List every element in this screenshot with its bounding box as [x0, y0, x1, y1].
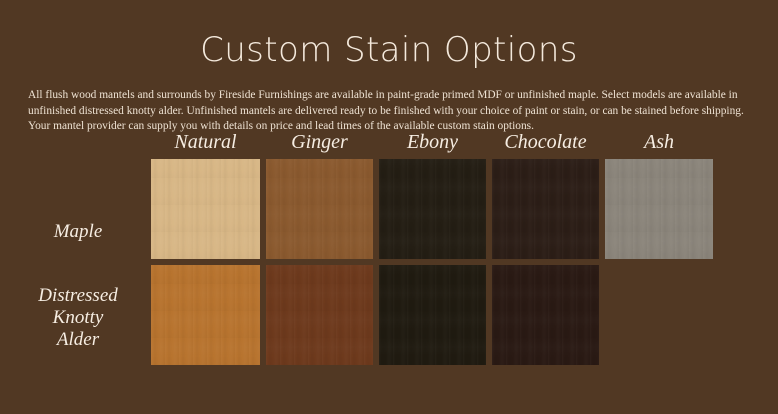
swatch-maple-natural[interactable]: [151, 159, 260, 259]
stain-swatch-grid: Natural Ginger Ebony Chocolate Ash Maple…: [0, 130, 778, 371]
swatch-alder-ebony[interactable]: [379, 265, 486, 365]
swatch-maple-ginger[interactable]: [266, 159, 373, 259]
row-label-distressed-knotty-alder: Distressed Knotty Alder: [10, 285, 146, 351]
row-label-line: Knotty: [10, 307, 146, 329]
swatch-alder-natural[interactable]: [151, 265, 260, 365]
swatch-row-distressed-knotty-alder: Distressed Knotty Alder: [0, 265, 778, 371]
swatch-maple-chocolate[interactable]: [492, 159, 599, 259]
page-title: Custom Stain Options: [0, 33, 778, 67]
column-header-chocolate: Chocolate: [492, 130, 599, 154]
row-label-maple: Maple: [10, 221, 146, 243]
column-header-ginger: Ginger: [266, 130, 373, 154]
column-header-ebony: Ebony: [379, 130, 486, 154]
swatch-maple-ebony[interactable]: [379, 159, 486, 259]
stain-options-page: Custom Stain Options All flush wood mant…: [0, 0, 778, 414]
row-label-line: Distressed: [10, 285, 146, 307]
swatch-row-maple: Maple: [0, 159, 778, 265]
row-label-line: Alder: [10, 329, 146, 351]
column-header-natural: Natural: [151, 130, 260, 154]
row-label-line: Maple: [10, 221, 146, 243]
intro-paragraph: All flush wood mantels and surrounds by …: [28, 88, 750, 134]
swatch-alder-ginger[interactable]: [266, 265, 373, 365]
swatch-maple-ash[interactable]: [605, 159, 713, 259]
swatch-alder-chocolate[interactable]: [492, 265, 599, 365]
column-header-row: Natural Ginger Ebony Chocolate Ash: [0, 130, 778, 159]
column-header-ash: Ash: [605, 130, 713, 154]
